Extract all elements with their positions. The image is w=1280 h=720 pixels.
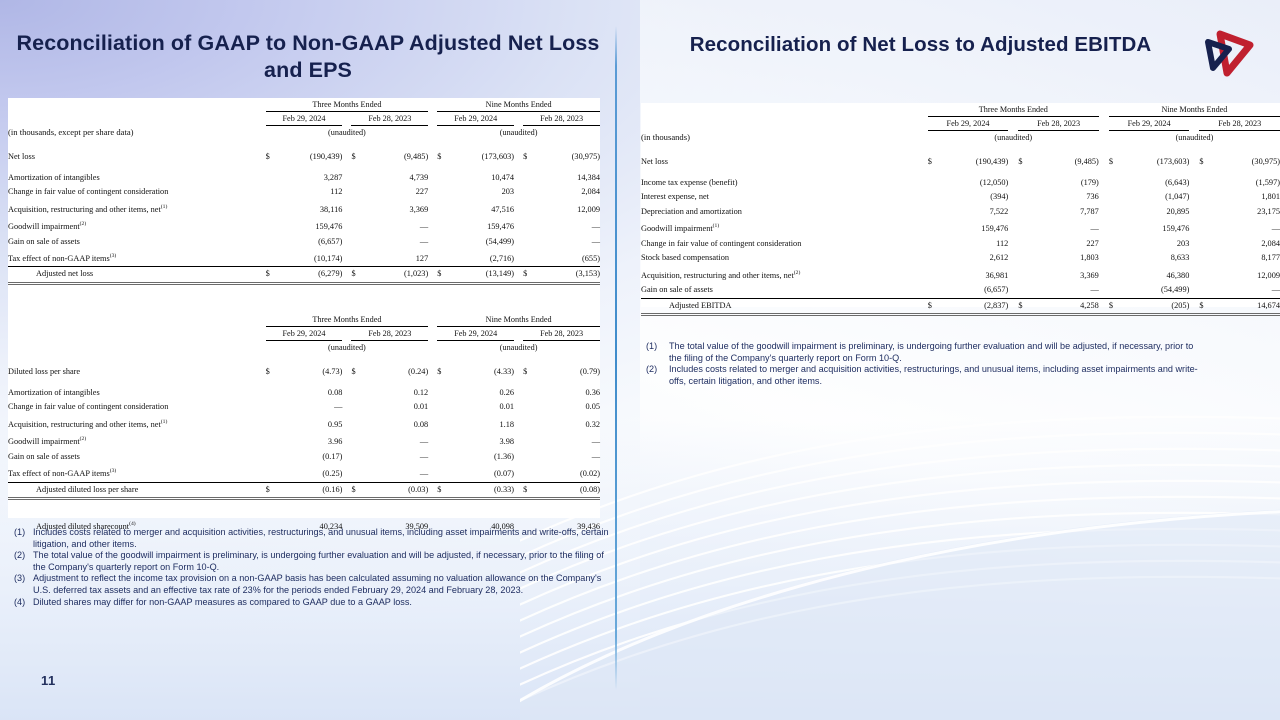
footnote-text: The total value of the goodwill impairme… (669, 341, 1206, 364)
unaudited-label-2: (unaudited) (437, 126, 600, 140)
row-label: Change in fair value of contingent consi… (8, 400, 266, 415)
cell-value: 159,476 (942, 219, 1008, 236)
total-value: (0.08) (536, 482, 600, 499)
slide-canvas: Reconciliation of GAAP to Non-GAAP Adjus… (0, 0, 1280, 720)
left-panel-title: Reconciliation of GAAP to Non-GAAP Adjus… (12, 30, 604, 84)
gaap-net-loss-table: (in thousands, except per share data) Th… (8, 98, 600, 285)
cell-value: — (1032, 283, 1098, 298)
total-value: (3,153) (536, 267, 600, 284)
footnote-marker: (1) (646, 341, 669, 364)
cell-value: 1.18 (450, 415, 514, 432)
row-label: Net loss (8, 150, 266, 165)
cell-value: — (536, 235, 600, 250)
cell-value: 47,516 (450, 200, 514, 217)
cell-value: 20,895 (1123, 205, 1189, 220)
unaudited-label-1: (unaudited) (266, 341, 429, 355)
footnote-item: (4) Diluted shares may differ for non-GA… (14, 597, 614, 609)
header-date-3: Feb 29, 2024 (437, 112, 514, 126)
cell-value: (0.17) (279, 450, 343, 465)
page-number: 11 (41, 673, 56, 688)
header-date-4: Feb 28, 2023 (1199, 117, 1280, 131)
table-row: Goodwill impairment(1) 159,476 — 159,476… (641, 219, 1280, 236)
row-label: Goodwill impairment(2) (8, 217, 266, 234)
footnote-ref: (3) (110, 253, 117, 259)
units-label: (in thousands) (641, 103, 928, 144)
cell-value: — (365, 464, 429, 482)
cell-value: (1.36) (450, 450, 514, 465)
cell-value: — (1214, 283, 1280, 298)
table-header-group-row: (in thousands, except per share data) Th… (8, 98, 600, 112)
cell-value: 14,384 (536, 171, 600, 186)
header-date-3: Feb 29, 2024 (1109, 117, 1189, 131)
cell-value: (190,439) (279, 150, 343, 165)
row-label: Amortization of intangibles (8, 171, 266, 186)
table-row: Amortization of intangibles 0.08 0.12 0.… (8, 386, 600, 401)
table-header-group-row: Three Months Ended Nine Months Ended (8, 313, 600, 327)
cell-value: (0.07) (450, 464, 514, 482)
footnote-marker: (2) (646, 364, 669, 387)
header-date-2: Feb 28, 2023 (351, 112, 428, 126)
table-row: Depreciation and amortization 7,522 7,78… (641, 205, 1280, 220)
footnote-marker: (4) (14, 597, 33, 609)
cell-value: 46,380 (1123, 266, 1189, 283)
cell-value: (9,485) (365, 150, 429, 165)
footnote-text: Includes costs related to merger and acq… (33, 527, 614, 550)
footnote-ref: (1) (161, 204, 168, 210)
header-three-months: Three Months Ended (266, 313, 429, 327)
total-value: (205) (1123, 298, 1189, 315)
footnote-item: (1) Includes costs related to merger and… (14, 527, 614, 550)
cell-value: 8,177 (1214, 251, 1280, 266)
cell-value: (9,485) (1032, 155, 1098, 170)
header-date-4: Feb 28, 2023 (523, 327, 600, 341)
table-row: Gain on sale of assets (6,657) — (54,499… (8, 235, 600, 250)
header-date-1: Feb 29, 2024 (266, 327, 343, 341)
cell-value: 3,287 (279, 171, 343, 186)
table-total-row: Adjusted EBITDA $(2,837) $4,258 $(205) $… (641, 298, 1280, 315)
row-label: Change in fair value of contingent consi… (641, 237, 928, 252)
cell-value: 227 (365, 185, 429, 200)
cell-value: 36,981 (942, 266, 1008, 283)
gaap-eps-table: Three Months Ended Nine Months Ended Feb… (8, 313, 600, 534)
cell-value: 12,009 (536, 200, 600, 217)
header-nine-months: Nine Months Ended (437, 98, 600, 112)
table-row: Net loss $(190,439) $(9,485) $(173,603) … (641, 155, 1280, 170)
cell-value: (6,643) (1123, 176, 1189, 191)
table-header-group-row: (in thousands) Three Months Ended Nine M… (641, 103, 1280, 117)
total-value: (0.33) (450, 482, 514, 499)
cell-value: 0.05 (536, 400, 600, 415)
cell-value: 0.32 (536, 415, 600, 432)
row-label: Stock based compensation (641, 251, 928, 266)
footnote-marker: (3) (14, 573, 33, 596)
footnote-ref: (1) (713, 223, 720, 229)
company-logo (1196, 28, 1256, 80)
cell-value: 23,175 (1214, 205, 1280, 220)
adjusted-ebitda-table: (in thousands) Three Months Ended Nine M… (641, 103, 1280, 316)
footnote-marker: (2) (14, 550, 33, 573)
cell-value: 2,612 (942, 251, 1008, 266)
cell-value: 203 (1123, 237, 1189, 252)
cell-value: 3.96 (279, 432, 343, 449)
header-nine-months: Nine Months Ended (437, 313, 600, 327)
header-date-2: Feb 28, 2023 (351, 327, 428, 341)
footnote-item: (3) Adjustment to reflect the income tax… (14, 573, 614, 596)
cell-value: — (536, 217, 600, 234)
cell-value: 1,801 (1214, 190, 1280, 205)
cell-value: 0.95 (279, 415, 343, 432)
row-label: Amortization of intangibles (8, 386, 266, 401)
total-label: Adjusted diluted loss per share (8, 482, 266, 499)
cell-value: 0.01 (365, 400, 429, 415)
table-row: Goodwill impairment(2) 3.96 — 3.98 — (8, 432, 600, 449)
row-label: Goodwill impairment(1) (641, 219, 928, 236)
table-total-row: Adjusted net loss $(6,279) $(1,023) $(13… (8, 267, 600, 284)
cell-value: (0.24) (365, 365, 429, 380)
cell-value: (1,047) (1123, 190, 1189, 205)
table-row: Net loss $(190,439) $(9,485) $(173,603) … (8, 150, 600, 165)
header-three-months: Three Months Ended (266, 98, 429, 112)
cell-value: 159,476 (450, 217, 514, 234)
cell-value: 0.36 (536, 386, 600, 401)
cell-value: (190,439) (942, 155, 1008, 170)
unaudited-label-1: (unaudited) (266, 126, 429, 140)
cell-value: 112 (942, 237, 1008, 252)
cell-value: 127 (365, 249, 429, 267)
cell-value: 736 (1032, 190, 1098, 205)
footnote-item: (2) Includes costs related to merger and… (646, 364, 1206, 387)
cell-value: — (365, 450, 429, 465)
table-row: Goodwill impairment(2) 159,476 — 159,476… (8, 217, 600, 234)
right-footnotes: (1) The total value of the goodwill impa… (646, 341, 1206, 387)
table-row: Acquisition, restructuring and other ite… (641, 266, 1280, 283)
cell-value: 7,787 (1032, 205, 1098, 220)
unaudited-label-2: (unaudited) (1109, 131, 1280, 145)
cell-value: 1,803 (1032, 251, 1098, 266)
footnote-item: (2) The total value of the goodwill impa… (14, 550, 614, 573)
footnote-item: (1) The total value of the goodwill impa… (646, 341, 1206, 364)
cell-value: (10,174) (279, 249, 343, 267)
cell-value: 3,369 (1032, 266, 1098, 283)
right-panel-title: Reconciliation of Net Loss to Adjusted E… (648, 31, 1193, 58)
header-date-4: Feb 28, 2023 (523, 112, 600, 126)
cell-value: — (1032, 219, 1098, 236)
right-table-panel: (in thousands) Three Months Ended Nine M… (641, 103, 1280, 307)
footnote-ref: (1) (161, 419, 168, 425)
total-label: Adjusted net loss (8, 267, 266, 284)
total-value: (2,837) (942, 298, 1008, 315)
footnote-ref: (2) (80, 221, 87, 227)
left-tables-panel: (in thousands, except per share data) Th… (8, 98, 600, 518)
row-label: Tax effect of non-GAAP items(3) (8, 464, 266, 482)
cell-value: (30,975) (1214, 155, 1280, 170)
cell-value: 2,084 (536, 185, 600, 200)
cell-value: 38,116 (279, 200, 343, 217)
cell-value: — (536, 432, 600, 449)
cell-value: 0.08 (279, 386, 343, 401)
footnote-text: The total value of the goodwill impairme… (33, 550, 614, 573)
header-date-3: Feb 29, 2024 (437, 327, 514, 341)
table-row: Interest expense, net (394) 736 (1,047) … (641, 190, 1280, 205)
cell-value: (173,603) (450, 150, 514, 165)
cell-value: 3,369 (365, 200, 429, 217)
row-label: Acquisition, restructuring and other ite… (8, 200, 266, 217)
row-label: Acquisition, restructuring and other ite… (641, 266, 928, 283)
total-label: Adjusted EBITDA (641, 298, 928, 315)
cell-value: 112 (279, 185, 343, 200)
cell-value: (54,499) (1123, 283, 1189, 298)
cell-value: (173,603) (1123, 155, 1189, 170)
unaudited-label-2: (unaudited) (437, 341, 600, 355)
footnote-text: Includes costs related to merger and acq… (669, 364, 1206, 387)
row-label: Change in fair value of contingent consi… (8, 185, 266, 200)
table-row: Gain on sale of assets (0.17) — (1.36) — (8, 450, 600, 465)
table-row: Change in fair value of contingent consi… (8, 400, 600, 415)
footnote-ref: (3) (110, 468, 117, 474)
table-row: Change in fair value of contingent consi… (641, 237, 1280, 252)
cell-value: (394) (942, 190, 1008, 205)
row-label: Acquisition, restructuring and other ite… (8, 415, 266, 432)
row-label: Diluted loss per share (8, 365, 266, 380)
cell-value: 4,739 (365, 171, 429, 186)
cell-value: 3.98 (450, 432, 514, 449)
table-total-row: Adjusted diluted loss per share $(0.16) … (8, 482, 600, 499)
row-label: Gain on sale of assets (641, 283, 928, 298)
cell-value: (4.73) (279, 365, 343, 380)
cell-value: (1,597) (1214, 176, 1280, 191)
header-three-months: Three Months Ended (928, 103, 1099, 117)
cell-value: — (1214, 219, 1280, 236)
footnote-text: Diluted shares may differ for non-GAAP m… (33, 597, 614, 609)
cell-value: 0.26 (450, 386, 514, 401)
cell-value: 2,084 (1214, 237, 1280, 252)
left-footnotes: (1) Includes costs related to merger and… (14, 527, 614, 608)
table-row: Tax effect of non-GAAP items(3) (10,174)… (8, 249, 600, 267)
cell-value: (54,499) (450, 235, 514, 250)
cell-value: (4.33) (450, 365, 514, 380)
cell-value: (179) (1032, 176, 1098, 191)
total-value: (0.16) (279, 482, 343, 499)
cell-value: 0.08 (365, 415, 429, 432)
table-row: Gain on sale of assets (6,657) — (54,499… (641, 283, 1280, 298)
footnote-text: Adjustment to reflect the income tax pro… (33, 573, 614, 596)
header-date-1: Feb 29, 2024 (928, 117, 1008, 131)
table-row: Stock based compensation 2,612 1,803 8,6… (641, 251, 1280, 266)
row-label: Goodwill impairment(2) (8, 432, 266, 449)
table-row: Acquisition, restructuring and other ite… (8, 415, 600, 432)
cell-value: (6,657) (279, 235, 343, 250)
header-date-2: Feb 28, 2023 (1018, 117, 1098, 131)
units-label: (in thousands, except per share data) (8, 98, 266, 139)
cell-value: 159,476 (1123, 219, 1189, 236)
cell-value: (2,716) (450, 249, 514, 267)
cell-value: (6,657) (942, 283, 1008, 298)
cell-value: (655) (536, 249, 600, 267)
unaudited-label-1: (unaudited) (928, 131, 1099, 145)
header-date-1: Feb 29, 2024 (266, 112, 343, 126)
column-divider (615, 26, 617, 690)
cell-value: — (365, 235, 429, 250)
total-value: (0.03) (365, 482, 429, 499)
table-row: Income tax expense (benefit) (12,050) (1… (641, 176, 1280, 191)
cell-value: 8,633 (1123, 251, 1189, 266)
cell-value: — (365, 432, 429, 449)
cell-value: (30,975) (536, 150, 600, 165)
table-row: Change in fair value of contingent consi… (8, 185, 600, 200)
cell-value: (0.79) (536, 365, 600, 380)
row-label: Income tax expense (benefit) (641, 176, 928, 191)
footnote-ref: (2) (80, 436, 87, 442)
table-row: Tax effect of non-GAAP items(3) (0.25) —… (8, 464, 600, 482)
total-value: 14,674 (1214, 298, 1280, 315)
cell-value: (0.02) (536, 464, 600, 482)
cell-value: 227 (1032, 237, 1098, 252)
cell-value: — (365, 217, 429, 234)
cell-value: 159,476 (279, 217, 343, 234)
row-label: Tax effect of non-GAAP items(3) (8, 249, 266, 267)
footnote-marker: (1) (14, 527, 33, 550)
total-value: 4,258 (1032, 298, 1098, 315)
header-nine-months: Nine Months Ended (1109, 103, 1280, 117)
total-value: (1,023) (365, 267, 429, 284)
row-label: Gain on sale of assets (8, 235, 266, 250)
cell-value: (12,050) (942, 176, 1008, 191)
table-row: Acquisition, restructuring and other ite… (8, 200, 600, 217)
cell-value: 0.01 (450, 400, 514, 415)
row-label: Gain on sale of assets (8, 450, 266, 465)
row-label: Depreciation and amortization (641, 205, 928, 220)
cell-value: 0.12 (365, 386, 429, 401)
cell-value: (0.25) (279, 464, 343, 482)
cell-value: 203 (450, 185, 514, 200)
row-label: Interest expense, net (641, 190, 928, 205)
table-row: Diluted loss per share $(4.73) $(0.24) $… (8, 365, 600, 380)
table-row: Amortization of intangibles 3,287 4,739 … (8, 171, 600, 186)
cell-value: — (279, 400, 343, 415)
total-value: (6,279) (279, 267, 343, 284)
cell-value: 12,009 (1214, 266, 1280, 283)
cell-value: — (536, 450, 600, 465)
row-label: Net loss (641, 155, 928, 170)
footnote-ref: (2) (794, 270, 801, 276)
cell-value: 7,522 (942, 205, 1008, 220)
total-value: (13,149) (450, 267, 514, 284)
cell-value: 10,474 (450, 171, 514, 186)
